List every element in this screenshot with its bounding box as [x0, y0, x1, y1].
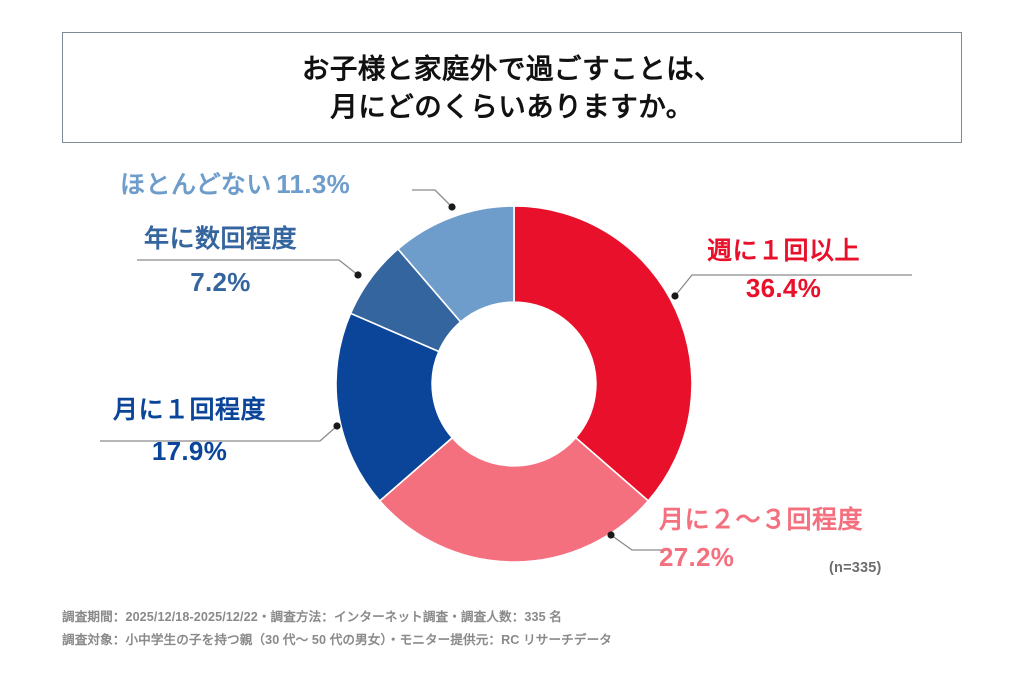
- slice-label-rarely-percent: 11.3%: [276, 169, 350, 199]
- footnotes: 調査期間：2025/12/18-2025/12/22・調査方法：インターネット調…: [62, 606, 962, 653]
- slice-label-monthly1: 月に１回程度 17.9%: [113, 395, 266, 467]
- donut-slices: [336, 206, 692, 562]
- slice-label-rarely: ほとんどない 11.3%: [120, 169, 350, 201]
- slice-label-yearly-category: 年に数回程度: [144, 224, 297, 255]
- chart-title-box: お子様と家庭外で過ごすことは、 月にどのくらいありますか。: [62, 32, 962, 143]
- footnote-line-2: 調査対象：小中学生の子を持つ親（30 代〜 50 代の男女）・モニター提供元：R…: [62, 629, 962, 652]
- slice-label-yearly: 年に数回程度 7.2%: [144, 224, 297, 298]
- chart-area: 週に１回以上 36.4% 月に２〜３回程度 27.2% 月に１回程度 17.9%…: [0, 150, 1024, 600]
- slice-label-rarely-category: ほとんどない: [120, 171, 272, 199]
- slice-label-monthly1-category: 月に１回程度: [113, 395, 266, 426]
- chart-title-line-2: 月にどのくらいありますか。: [330, 88, 693, 126]
- donut-slice: [514, 206, 692, 501]
- sample-size-label: (n=335): [829, 560, 882, 576]
- slice-label-weekly: 週に１回以上 36.4%: [707, 236, 860, 304]
- chart-title-line-1: お子様と家庭外で過ごすことは、: [302, 50, 722, 88]
- footnote-line-1: 調査期間：2025/12/18-2025/12/22・調査方法：インターネット調…: [62, 606, 962, 629]
- slice-label-weekly-category: 週に１回以上: [707, 236, 860, 267]
- slice-label-weekly-percent: 36.4%: [707, 273, 860, 305]
- slice-label-yearly-percent: 7.2%: [144, 267, 297, 299]
- slice-label-monthly1-percent: 17.9%: [113, 436, 266, 468]
- slice-label-monthly23-category: 月に２〜３回程度: [659, 505, 863, 536]
- donut-chart: [334, 204, 694, 564]
